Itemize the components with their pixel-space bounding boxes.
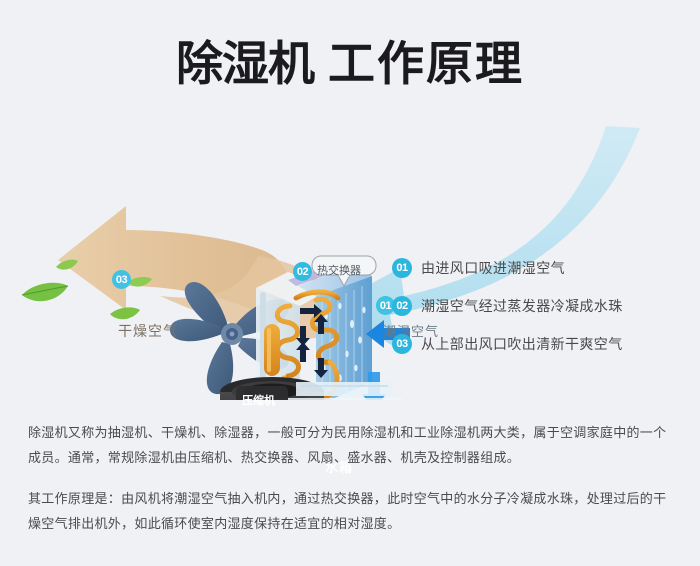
legend-badge: 02 <box>392 296 412 316</box>
legend-label: 潮湿空气经过蒸发器冷凝成水珠 <box>421 296 623 316</box>
legend-item: 02 潮湿空气经过蒸发器冷凝成水珠 <box>392 296 623 316</box>
drip-tray <box>296 382 392 396</box>
legend-badge: 01 <box>392 258 412 278</box>
paragraph-1: 除湿机又称为抽湿机、干燥机、除湿器，一般可分为民用除湿机和工业除湿机两大类，属于… <box>28 420 678 470</box>
label-dry-air: 干燥空气 <box>118 321 178 341</box>
page-title: 除湿机工作原理 <box>0 34 700 94</box>
leaf-icon <box>110 307 140 319</box>
legend-item: 03 从上部出风口吹出清新干爽空气 <box>392 334 623 354</box>
body-copy: 除湿机又称为抽湿机、干燥机、除湿器，一般可分为民用除湿机和工业除湿机两大类，属于… <box>28 420 678 552</box>
title-part-2: 工作原理 <box>328 37 524 90</box>
paragraph-2: 其工作原理是：由风机将潮湿空气抽入机内，通过热交换器，此时空气中的水分子冷凝成水… <box>28 486 678 536</box>
label-heat-exchanger: 热交换器 <box>317 262 361 278</box>
infographic-page: 除湿机工作原理 <box>0 0 700 566</box>
diagram-marker-02: 02 <box>293 262 312 281</box>
receiver-cylinder <box>264 324 280 376</box>
legend-list: 01 由进风口吸进潮湿空气 02 潮湿空气经过蒸发器冷凝成水珠 03 从上部出风… <box>392 258 623 372</box>
leaf-icon <box>22 283 68 301</box>
water-tank <box>288 398 404 400</box>
title-part-1: 除湿机 <box>176 37 314 90</box>
legend-badge: 03 <box>392 334 412 354</box>
legend-label: 由进风口吸进潮湿空气 <box>421 258 565 278</box>
legend-label: 从上部出风口吹出清新干爽空气 <box>421 334 623 354</box>
legend-item: 01 由进风口吸进潮湿空气 <box>392 258 623 278</box>
label-compressor: 压缩机 <box>242 392 275 408</box>
diagram-marker-03: 03 <box>112 270 131 289</box>
